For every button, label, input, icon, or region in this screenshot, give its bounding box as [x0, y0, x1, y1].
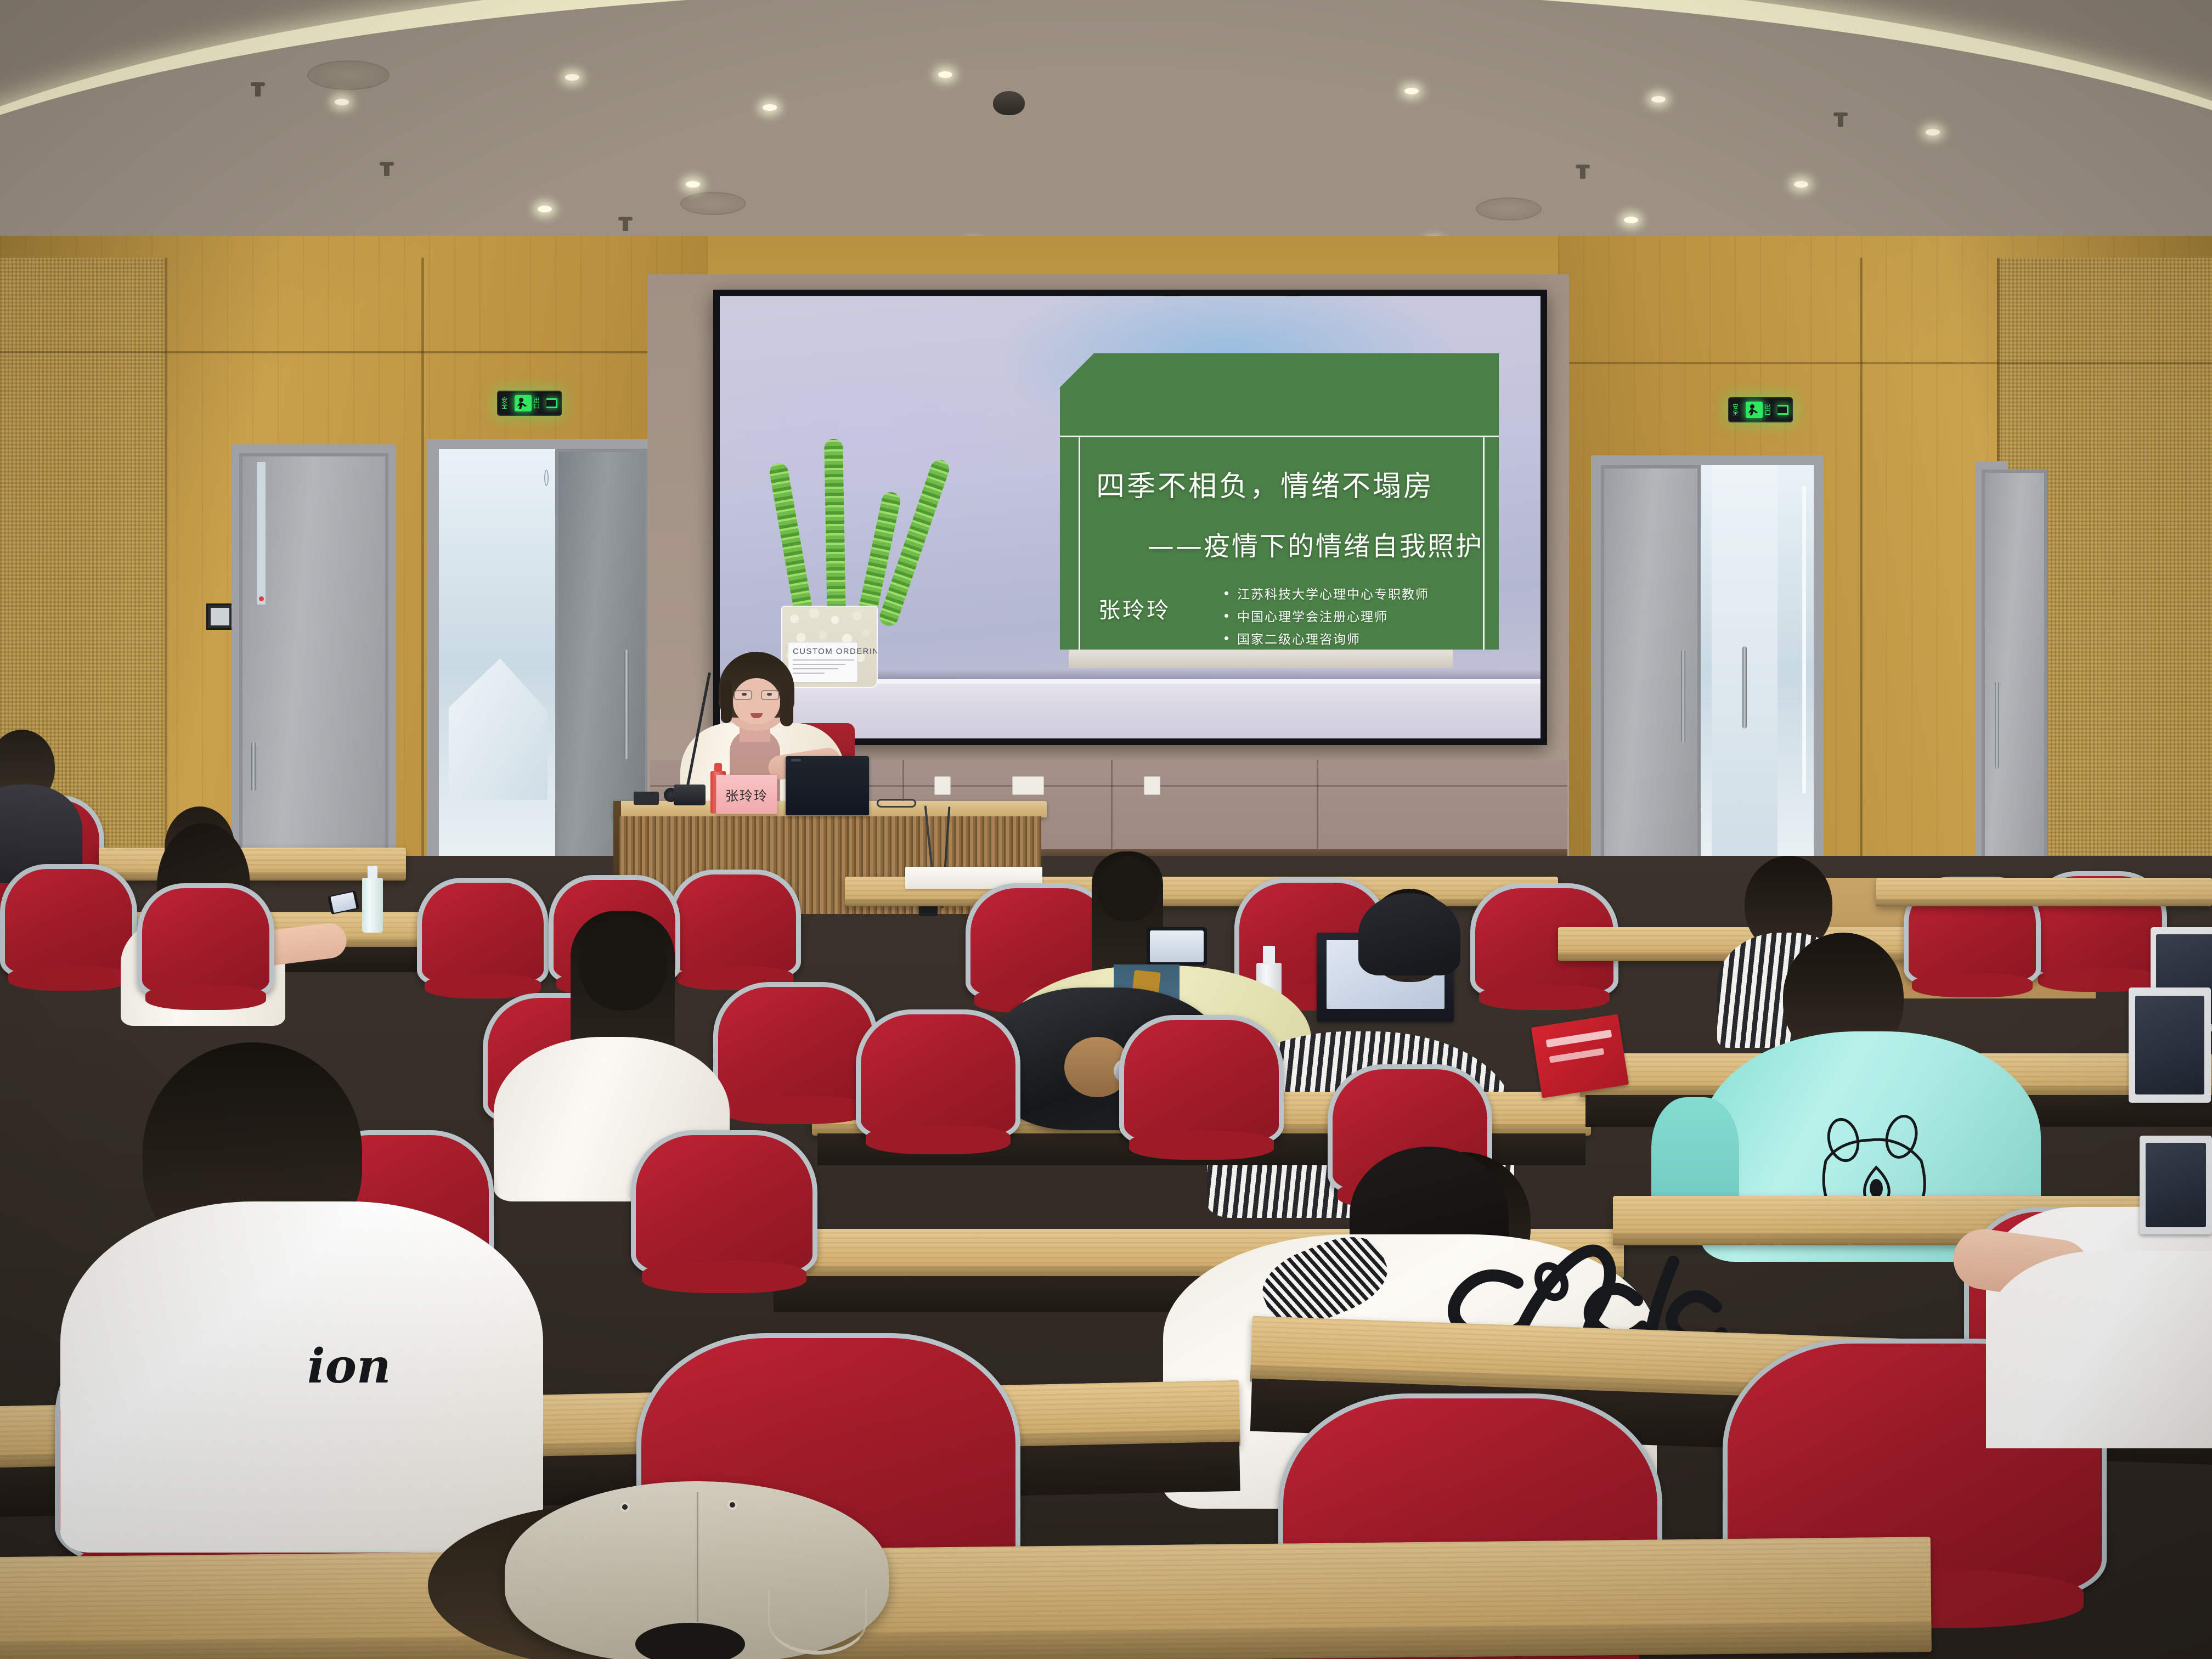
vase-label-line [793, 673, 825, 674]
hook-icon [544, 470, 549, 486]
exit-sign-text-right: 出口 [534, 397, 545, 409]
exit-door-icon [546, 398, 557, 408]
slide-presenter-name: 张玲玲 [1098, 592, 1171, 624]
cabinet-divider [1111, 760, 1113, 850]
vase-label-line [793, 668, 838, 669]
door-indicator-light-icon [259, 596, 264, 601]
door-light-gap [1802, 486, 1806, 793]
wall-seam [0, 351, 708, 353]
lecture-hall-photo: 安全 出口 安全 出口 [0, 0, 2212, 1659]
person-torso-white-tshirt [60, 1201, 543, 1553]
black-cap [1358, 893, 1460, 975]
ceiling-speaker-icon [680, 192, 746, 215]
sprinkler-head-icon [623, 217, 628, 231]
wall-outlet[interactable] [1144, 776, 1160, 795]
cap-closure-gap [635, 1623, 745, 1659]
slide-title: 四季不相负，情绪不塌房 [1096, 463, 1434, 504]
slide-credentials-list: 江苏科技大学心理中心专职教师 中国心理学会注册心理师 国家二级心理咨询师 [1224, 584, 1429, 651]
cabinet-divider [1317, 760, 1318, 850]
person-head [1098, 856, 1158, 922]
ceiling-downlight-icon [1926, 129, 1940, 136]
stairwell-opening [439, 449, 556, 887]
ceiling-downlight-icon [763, 104, 777, 111]
list-item: 中国心理学会注册心理师 [1224, 606, 1429, 625]
ceiling-downlight-icon [538, 206, 552, 212]
bullet-icon [1224, 614, 1228, 618]
tablet[interactable] [2140, 1136, 2212, 1234]
running-person-exit-icon [1746, 402, 1763, 418]
cap-adjuster-strap [768, 1589, 867, 1655]
eyeglasses-on-podium [877, 799, 916, 808]
vase-label-line [793, 659, 854, 661]
wall-notice-plate [206, 603, 234, 630]
vase-label-line [793, 664, 845, 665]
projection-screen: CUSTOM ORDERING 四季不相负，情绪不塌房 ——疫情下的情绪自我照护… [713, 290, 1547, 745]
bullet-icon [1224, 591, 1228, 595]
credential-text: 江苏科技大学心理中心专职教师 [1237, 584, 1429, 602]
wall-outlet-double[interactable] [1012, 776, 1044, 795]
eyeglasses-icon [734, 690, 779, 700]
slide-subtitle: ——疫情下的情绪自我照护 [1148, 524, 1483, 563]
khaki-baseball-cap [505, 1481, 889, 1659]
ceiling-downlight-icon [1794, 181, 1808, 188]
microphone-base [674, 785, 706, 805]
ceiling-downlight-icon [565, 74, 579, 81]
list-item: 国家二级心理咨询师 [1224, 629, 1429, 647]
ceiling-camera-icon [993, 91, 1025, 115]
door-handle[interactable] [1681, 650, 1685, 743]
list-item: 江苏科技大学心理中心专职教师 [1224, 584, 1429, 602]
ceiling-downlight-icon [1651, 96, 1666, 103]
wall-seam [1558, 362, 2212, 364]
podium-laptop[interactable] [786, 756, 869, 815]
wall-seam [1860, 258, 1863, 883]
tablet[interactable] [2129, 988, 2211, 1103]
ceiling-downlight-icon [1404, 88, 1419, 94]
ceiling-downlight-icon [686, 181, 700, 188]
credential-text: 国家二级心理咨询师 [1237, 629, 1361, 647]
stairwell-stairs [449, 635, 548, 800]
sprinkler-head-icon [1580, 165, 1585, 179]
ceiling-speaker-icon [307, 60, 390, 90]
ceiling-downlight-icon [1624, 217, 1638, 223]
chair[interactable] [1119, 1015, 1284, 1147]
projected-slide: CUSTOM ORDERING 四季不相负，情绪不塌房 ——疫情下的情绪自我照护… [720, 296, 1541, 738]
cap-eyelet-icon [730, 1502, 735, 1508]
person-head [579, 917, 667, 1011]
chair[interactable] [856, 1009, 1020, 1141]
door-handle[interactable] [624, 650, 629, 759]
exit-sign-text-right: 出口 [1765, 404, 1776, 416]
chair[interactable] [669, 870, 801, 979]
door-handle[interactable] [1742, 646, 1747, 729]
door-handle[interactable] [251, 742, 256, 791]
chair[interactable] [631, 1130, 817, 1278]
exit-sign-left: 安全 出口 [497, 391, 562, 416]
tshirt-graphic: ion [307, 1339, 433, 1404]
chair[interactable] [137, 883, 274, 998]
ceiling-speaker-icon [1476, 198, 1542, 221]
slide-green-card: 四季不相负，情绪不塌房 ——疫情下的情绪自我照护 张玲玲 江苏科技大学心理中心专… [1060, 353, 1499, 650]
vase-label-title: CUSTOM ORDERING [793, 647, 854, 656]
exit-door-icon [1778, 405, 1788, 415]
sprinkler-head-icon [384, 162, 390, 176]
slide-glass-vase: CUSTOM ORDERING [781, 606, 878, 688]
corridor-opening-right [1701, 465, 1814, 884]
sprinkler-head-icon [1838, 112, 1843, 127]
door-left-closed[interactable] [239, 453, 388, 883]
door-right-closed[interactable] [1601, 465, 1701, 884]
door-far-right[interactable] [1982, 470, 2047, 884]
desk-row-f [0, 1537, 1932, 1659]
ceiling-downlight-icon [335, 99, 349, 105]
vase-label: CUSTOM ORDERING [788, 642, 858, 682]
speaker-name-card: 张玲玲 [716, 775, 777, 814]
wall-outlet[interactable] [934, 776, 951, 795]
desk-row-b-left [99, 848, 406, 881]
smartphone[interactable] [1147, 927, 1207, 966]
running-person-exit-icon [515, 395, 532, 411]
chair[interactable] [713, 982, 878, 1111]
speaker-name-card-text: 张玲玲 [725, 785, 768, 804]
desk-far-right [1876, 878, 2212, 906]
person-torso-white-far-right [1986, 1251, 2212, 1448]
succulent-stem-icon [824, 439, 846, 624]
cap-eyelet-icon [622, 1504, 628, 1510]
drink-bottle [362, 878, 383, 933]
door-right-open-leaf[interactable] [1712, 465, 1778, 884]
exit-sign-text-left: 安全 [1733, 404, 1743, 416]
exit-sign-text-left: 安全 [501, 397, 512, 409]
door-handle[interactable] [1995, 681, 1999, 769]
sprinkler-head-icon [255, 82, 261, 97]
presenter-remote[interactable] [634, 792, 659, 805]
tshirt-graphic-text: ion [307, 1339, 391, 1394]
credential-text: 中国心理学会注册心理师 [1237, 606, 1388, 625]
exit-sign-right: 安全 出口 [1728, 397, 1793, 422]
door-glass-strip [257, 462, 266, 605]
cap-seam [697, 1492, 698, 1623]
chair[interactable] [0, 864, 137, 979]
chair[interactable] [417, 878, 549, 988]
ceiling-downlight-icon [938, 71, 952, 78]
bullet-icon [1224, 636, 1228, 640]
